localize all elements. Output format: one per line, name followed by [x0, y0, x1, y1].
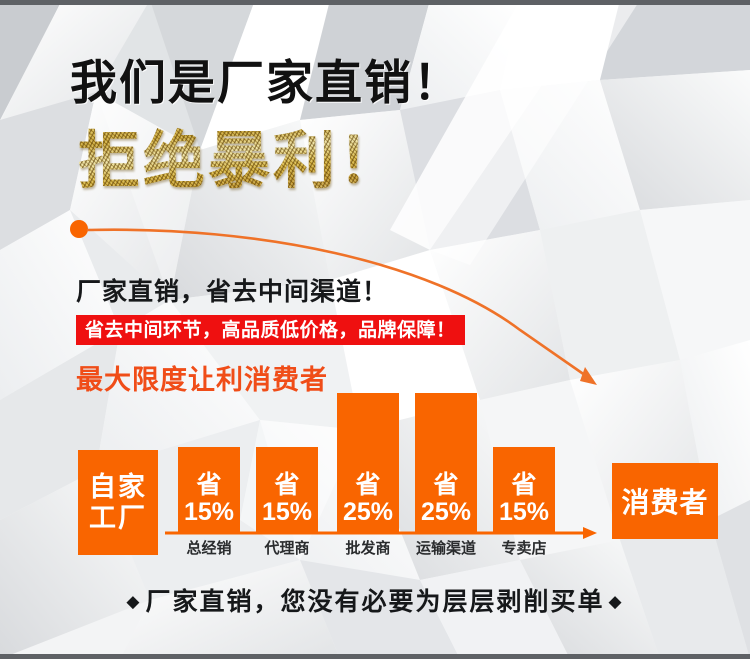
bar-0: 省 15% — [178, 447, 240, 533]
red-highlight-strip: 省去中间环节，高品质低价格，品牌保障！ — [76, 315, 465, 345]
red-strip-text: 省去中间环节，高品质低价格，品牌保障！ — [85, 321, 456, 340]
bar-2-prefix: 省 — [355, 472, 380, 498]
headline-primary: 我们是厂家直销！ — [70, 44, 462, 113]
bar-1-prefix: 省 — [274, 472, 299, 498]
bar-3-value: 25% — [421, 498, 471, 527]
tick-label-4: 专卖店 — [493, 537, 555, 558]
subheadline: 厂家直销，省去中间渠道！ — [76, 272, 388, 308]
consumer-label: 消费者 — [621, 481, 708, 521]
bottom-tagline-text: 厂家直销，您没有必要为层层剥削买单 — [145, 588, 604, 616]
bar-0-value: 15% — [184, 498, 234, 527]
node-consumer: 消费者 — [612, 463, 718, 539]
bar-1-value: 15% — [262, 498, 312, 527]
tick-label-3: 运输渠道 — [406, 537, 486, 558]
diamond-right-icon: ◆ — [609, 592, 624, 611]
node-own-factory: 自家 工厂 — [78, 450, 158, 555]
diamond-left-icon: ◆ — [126, 592, 141, 611]
bar-2-value: 25% — [343, 498, 393, 527]
tick-label-1: 代理商 — [256, 537, 318, 558]
orange-tagline: 最大限度让利消费者 — [76, 358, 328, 397]
bar-4-prefix: 省 — [511, 472, 536, 498]
headline-gold: 拒绝暴利！ — [78, 110, 403, 200]
bar-0-prefix: 省 — [196, 472, 221, 498]
factory-label-line2: 工厂 — [89, 503, 147, 533]
tick-label-2: 批发商 — [337, 537, 399, 558]
factory-label-line1: 自家 — [89, 472, 147, 502]
bar-3-prefix: 省 — [433, 472, 458, 498]
bottom-tagline: ◆厂家直销，您没有必要为层层剥削买单◆ — [0, 582, 750, 618]
bar-2: 省 25% — [337, 393, 399, 533]
bar-4: 省 15% — [493, 447, 555, 533]
bar-1: 省 15% — [256, 447, 318, 533]
promo-banner: 我们是厂家直销！ 拒绝暴利！ 厂家直销，省去中间渠道！ 省去中间环节，高品质低价… — [0, 0, 750, 659]
tick-label-0: 总经销 — [178, 537, 240, 558]
bar-3: 省 25% — [415, 393, 477, 533]
bar-4-value: 15% — [499, 498, 549, 527]
